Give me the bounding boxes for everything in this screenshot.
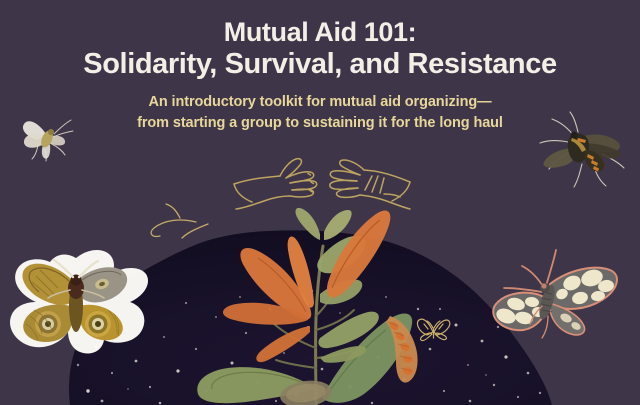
plant-svg [120,198,520,405]
golden-moth-icon [2,244,150,356]
reaching-hands-icon [232,156,412,210]
leaf-sprout-right [324,210,352,240]
poster-title-line-2: Solidarity, Survival, and Resistance [0,49,640,80]
golden-moth-svg [2,244,150,356]
botanical-plant-illustration [120,198,520,405]
subtitle-line-2: from starting a group to sustaining it f… [0,113,640,134]
small-butterfly-icon [415,316,453,346]
small-butterfly-svg [415,316,453,346]
poster-subtitle: An introductory toolkit for mutual aid o… [0,92,640,134]
title-block: Mutual Aid 101: Solidarity, Survival, an… [0,0,640,135]
patterned-moth-svg [484,246,632,350]
poster-canvas: Mutual Aid 101: Solidarity, Survival, an… [0,0,640,405]
hands-svg [232,156,412,210]
poster-title-line-1: Mutual Aid 101: [0,18,640,47]
patterned-moth-icon [484,246,632,350]
subtitle-line-1: An introductory toolkit for mutual aid o… [0,92,640,113]
leaf-sprout-left [296,208,321,240]
